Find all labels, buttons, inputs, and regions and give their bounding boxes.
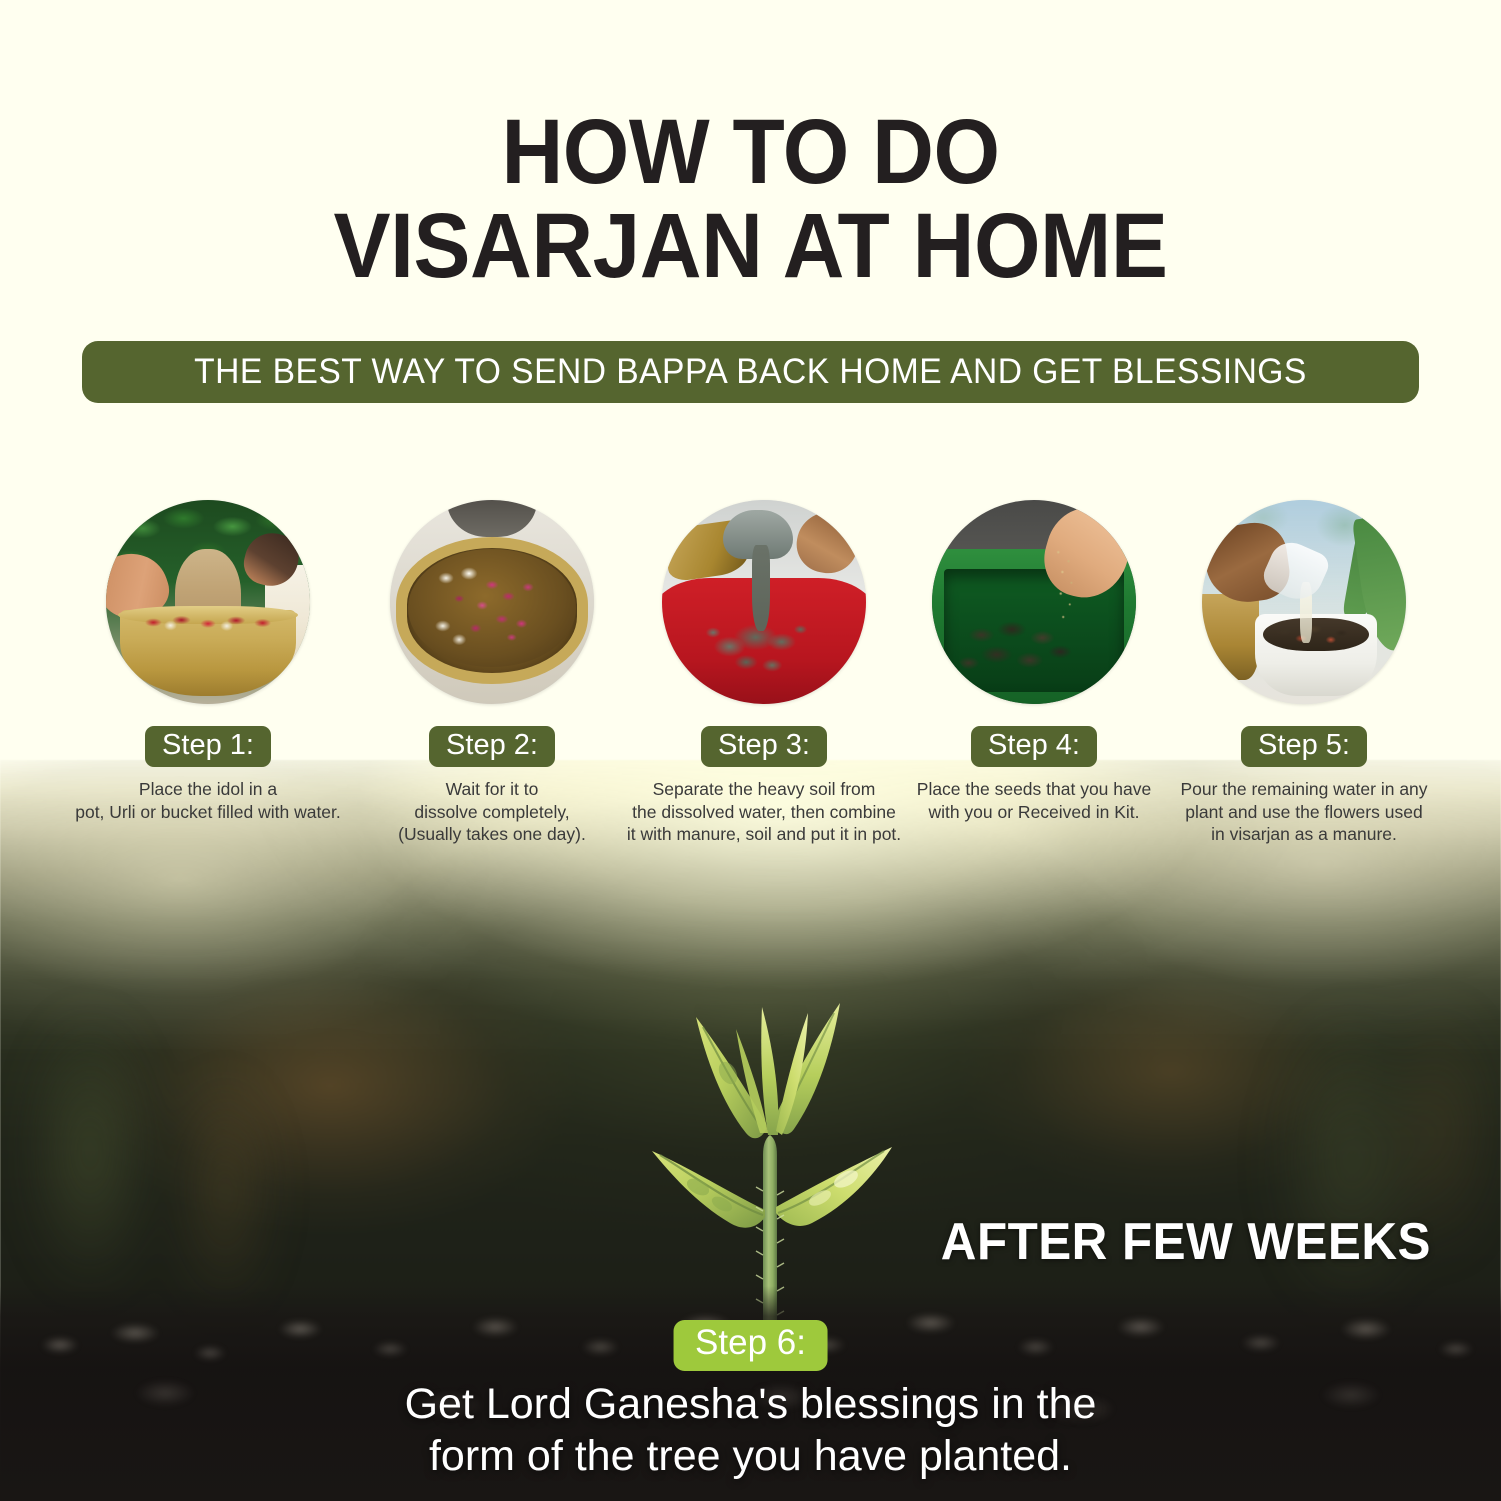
step-1-image — [106, 500, 310, 704]
infographic-page: HOW TO DO VISARJAN AT HOME THE BEST WAY … — [0, 0, 1501, 1501]
step-4-label: Step 4: — [971, 726, 1097, 767]
step-card-5: Step 5: Pour the remaining water in any … — [1160, 500, 1448, 846]
step-card-3: Step 3: Separate the heavy soil from the… — [620, 500, 908, 846]
step-3-label: Step 3: — [701, 726, 827, 767]
step-5-label: Step 5: — [1241, 726, 1367, 767]
steps-row: Step 1: Place the idol in a pot, Urli or… — [0, 500, 1501, 850]
after-few-weeks-heading: AFTER FEW WEEKS — [941, 1212, 1431, 1272]
step-5-image — [1202, 500, 1406, 704]
step-4-description: Place the seeds that you have with you o… — [894, 778, 1174, 823]
step-card-1: Step 1: Place the idol in a pot, Urli or… — [64, 500, 352, 823]
step-1-label: Step 1: — [145, 726, 271, 767]
step-5-description: Pour the remaining water in any plant an… — [1164, 778, 1444, 845]
step-card-4: Step 4: Place the seeds that you have wi… — [890, 500, 1178, 823]
step-6-description: Get Lord Ganesha's blessings in the form… — [0, 1378, 1501, 1483]
step-2-image — [390, 500, 594, 704]
step-3-description: Separate the heavy soil from the dissolv… — [624, 778, 904, 845]
step-card-2: Step 2: Wait for it to dissolve complete… — [348, 500, 636, 846]
step-2-description: Wait for it to dissolve completely, (Usu… — [352, 778, 632, 845]
step-3-image — [662, 500, 866, 704]
page-title: HOW TO DO VISARJAN AT HOME — [53, 106, 1449, 294]
step-1-description: Place the idol in a pot, Urli or bucket … — [68, 778, 348, 823]
subtitle-text: THE BEST WAY TO SEND BAPPA BACK HOME AND… — [194, 352, 1307, 392]
step-6-label: Step 6: — [673, 1320, 828, 1371]
step-4-image — [932, 500, 1136, 704]
subtitle-banner: THE BEST WAY TO SEND BAPPA BACK HOME AND… — [82, 341, 1419, 403]
step-2-label: Step 2: — [429, 726, 555, 767]
